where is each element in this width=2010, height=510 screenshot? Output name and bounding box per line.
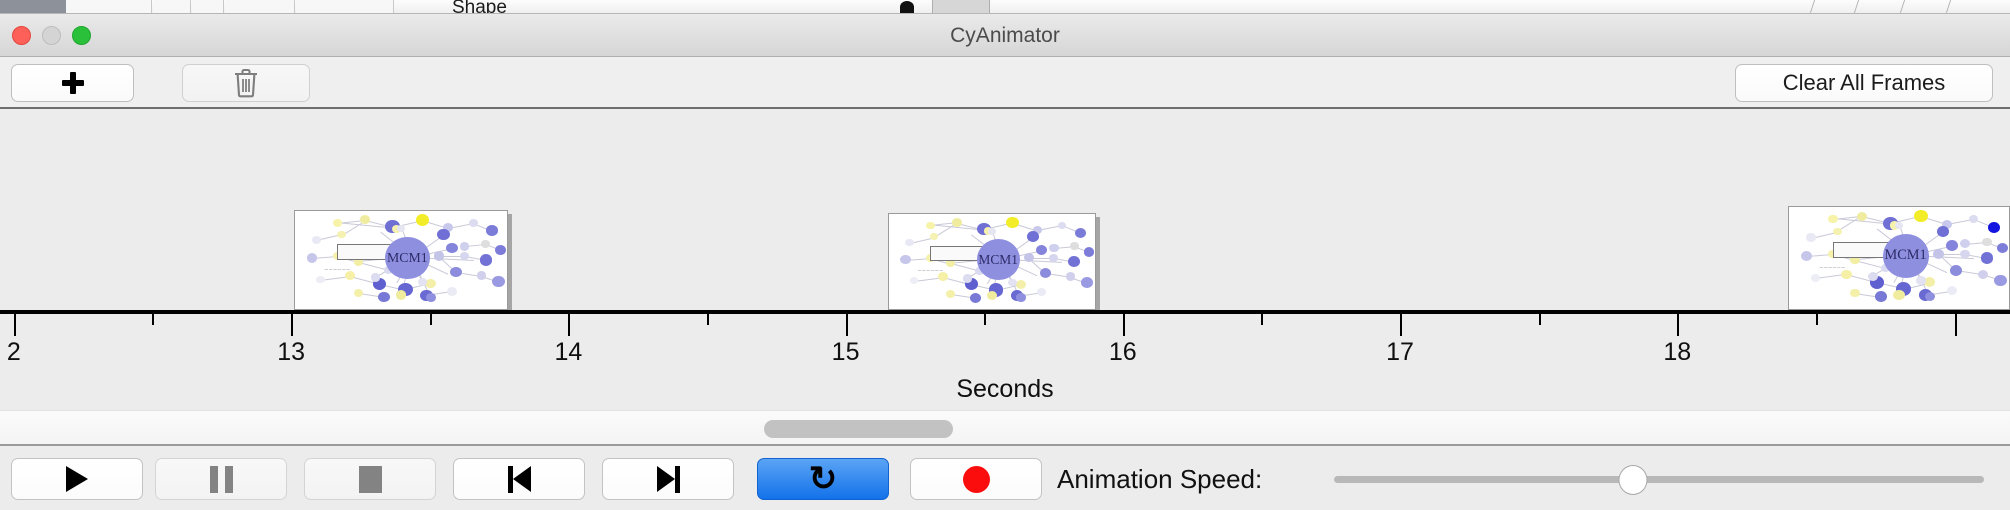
network-node: [905, 239, 914, 247]
background-divider: [1810, 0, 1815, 13]
network-node: [1914, 210, 1928, 222]
axis-line: [0, 310, 2010, 314]
network-node: [480, 254, 492, 265]
network-node: [312, 236, 321, 244]
network-node: [963, 274, 973, 283]
network-node: [1036, 245, 1047, 255]
frame-thumbnail[interactable]: — — — — — —MCM1: [888, 213, 1096, 310]
background-cell: [296, 0, 394, 13]
network-caption: — — — — — —: [325, 267, 350, 271]
network-node: [425, 279, 436, 289]
frame-timeline-panel[interactable]: — — — — — —MCM1 — — — — — —MCM1 — — — — …: [0, 109, 2010, 310]
delete-frame-button[interactable]: [182, 64, 310, 102]
network-node: [360, 215, 370, 224]
axis-tick-label: 18: [1663, 338, 1691, 367]
axis-tick-minor: [984, 314, 986, 325]
axis-tick-major: [568, 314, 570, 336]
timeline-axis: 2131415161718 Seconds: [0, 310, 2010, 406]
network-node: [1947, 286, 1957, 295]
background-cell: [225, 0, 295, 13]
network-node: [1801, 251, 1812, 261]
background-divider: [1854, 0, 1859, 13]
network-node: [450, 267, 462, 277]
background-marker: [900, 1, 914, 13]
loop-button[interactable]: ↻: [757, 458, 889, 500]
axis-tick-major: [291, 314, 293, 336]
network-node: [930, 233, 938, 240]
network-node: [1058, 222, 1067, 230]
network-node: [418, 278, 427, 286]
network-node: [1988, 222, 2000, 233]
network-node: [446, 243, 458, 253]
network-node: [1828, 215, 1837, 223]
network-node: [426, 293, 436, 302]
scrollbar-thumb[interactable]: [764, 420, 953, 438]
title-bar: CyAnimator: [0, 14, 2010, 57]
pause-icon: [210, 466, 233, 493]
window-title: CyAnimator: [0, 14, 2010, 57]
axis-tick-minor: [707, 314, 709, 325]
axis-tick-minor: [1539, 314, 1541, 325]
network-node: [1081, 277, 1093, 288]
network-node: [492, 276, 504, 287]
frame-toolbar: Clear All Frames: [0, 57, 2010, 109]
network-hub-node: MCM1: [977, 239, 1020, 280]
network-node: [1016, 293, 1026, 302]
network-node: [1068, 256, 1080, 267]
network-node: [1924, 277, 1935, 287]
network-node: [938, 272, 948, 281]
axis-tick-label: 17: [1386, 338, 1414, 367]
network-caption: — — — — — —: [918, 268, 943, 272]
network-node: [1857, 212, 1867, 221]
background-cell: [66, 0, 152, 13]
network-node: [1027, 231, 1039, 242]
network-node: [1008, 279, 1017, 287]
network-node: [1049, 254, 1058, 262]
play-icon: [66, 466, 88, 492]
network-node: [1978, 270, 1988, 279]
axis-tick-label: 2: [7, 338, 21, 367]
background-divider: [1900, 0, 1905, 13]
network-node: [1084, 247, 1094, 256]
network-node: [1049, 244, 1059, 253]
axis-tick-major: [1677, 314, 1679, 336]
network-node: [1811, 274, 1820, 282]
network-node: [926, 222, 935, 230]
add-frame-button[interactable]: [11, 64, 134, 102]
network-node: [1994, 275, 2007, 287]
network-node: [316, 276, 324, 284]
network-node: [447, 287, 457, 296]
background-cell: [192, 0, 224, 13]
network-node: [1075, 228, 1086, 238]
axis-tick-label: 13: [277, 338, 305, 367]
background-window-strip: Shape: [0, 0, 2010, 14]
axis-tick-major: [1400, 314, 1402, 336]
trash-icon: [233, 68, 259, 98]
network-node: [437, 229, 449, 240]
axis-tick-major: [1123, 314, 1125, 336]
network-node: [1969, 215, 1978, 223]
axis-tick-minor: [152, 314, 154, 325]
axis-tick-major: [14, 314, 16, 336]
animation-speed-slider[interactable]: [1334, 458, 1984, 500]
network-node: [1850, 289, 1859, 297]
network-node: [946, 290, 955, 298]
network-node: [378, 292, 390, 302]
slider-thumb[interactable]: [1619, 465, 1648, 495]
cyanimator-window: Shape CyAnimator Clear All Frames: [0, 0, 2010, 510]
network-node: [1981, 252, 1994, 264]
network-hub-node: MCM1: [385, 237, 430, 279]
network-node: [460, 242, 470, 251]
axis-tick-minor: [1261, 314, 1263, 325]
network-node: [345, 271, 355, 280]
plus-icon: [62, 72, 84, 94]
network-node: [1806, 233, 1815, 241]
network-node: [1875, 291, 1887, 302]
network-node: [1040, 268, 1051, 278]
stop-icon: [359, 466, 382, 493]
network-node: [1982, 238, 1991, 246]
network-node: [1016, 280, 1026, 289]
network-node: [416, 214, 429, 226]
previous-frame-button[interactable]: [453, 458, 585, 500]
skip-forward-icon: [657, 466, 680, 493]
network-graph: — — — — — —MCM1: [1789, 207, 2009, 309]
network-node: [910, 277, 918, 284]
network-node: [307, 253, 318, 263]
network-node: [1916, 276, 1925, 284]
record-button[interactable]: [910, 458, 1042, 500]
network-node: [333, 219, 342, 227]
network-node: [486, 225, 498, 235]
axis-tick-minor: [1816, 314, 1818, 325]
background-divider: [1946, 0, 1951, 13]
background-window-label: Shape: [452, 0, 507, 14]
slider-track[interactable]: [1334, 476, 1984, 483]
axis-tick-label: 16: [1109, 338, 1137, 367]
network-node: [1868, 272, 1878, 281]
network-node: [970, 293, 981, 303]
network-node: [495, 245, 506, 255]
pause-button[interactable]: [155, 458, 287, 500]
frame-thumbnail[interactable]: — — — — — —MCM1: [1788, 206, 2010, 310]
network-node: [987, 291, 997, 300]
network-node: [988, 228, 996, 235]
background-tab: [0, 0, 66, 13]
clear-all-frames-button[interactable]: Clear All Frames: [1735, 64, 1993, 102]
network-graph: — — — — — —MCM1: [295, 211, 507, 309]
network-node: [354, 289, 363, 297]
network-node: [1893, 290, 1904, 300]
network-graph: — — — — — —MCM1: [889, 214, 1095, 309]
network-node: [1950, 265, 1962, 276]
axis-tick-major: [1955, 314, 1957, 336]
network-node: [900, 255, 910, 264]
network-node: [1037, 288, 1047, 297]
record-icon: [963, 466, 990, 493]
network-node: [337, 231, 345, 239]
network-node: [1833, 228, 1842, 236]
network-node: [1946, 240, 1958, 251]
network-node: [1006, 217, 1019, 229]
next-frame-button[interactable]: [602, 458, 734, 500]
background-swatch: [932, 0, 990, 13]
axis-tick-label: 15: [832, 338, 860, 367]
network-caption: — — — — — —: [1820, 265, 1845, 269]
network-node: [481, 240, 490, 248]
stop-button[interactable]: [304, 458, 436, 500]
network-node: [1997, 243, 2008, 253]
playback-toolbar: ↻ Animation Speed:: [0, 448, 2010, 510]
network-hub-node: MCM1: [1883, 234, 1929, 278]
axis-tick-minor: [430, 314, 432, 325]
network-node: [469, 219, 478, 227]
skip-back-icon: [508, 466, 531, 493]
network-node: [1070, 242, 1079, 250]
network-node: [952, 218, 962, 227]
network-node: [1960, 250, 1969, 258]
network-node: [1066, 272, 1076, 281]
play-button[interactable]: [11, 458, 143, 500]
network-node: [1895, 222, 1903, 229]
frame-thumbnail[interactable]: — — — — — —MCM1: [294, 210, 508, 310]
network-node: [1960, 239, 1970, 248]
loop-icon: ↻: [809, 462, 838, 496]
network-node: [1933, 249, 1944, 259]
network-node: [1925, 292, 1935, 301]
axis-title: Seconds: [0, 375, 2010, 404]
axis-tick-label: 14: [554, 338, 582, 367]
network-node: [396, 290, 407, 300]
timeline-scrollbar[interactable]: [0, 410, 2010, 446]
background-cell: [153, 0, 191, 13]
axis-tick-major: [846, 314, 848, 336]
network-node: [477, 271, 487, 280]
animation-speed-label: Animation Speed:: [1057, 458, 1262, 500]
network-node: [1937, 226, 1950, 238]
network-node: [1841, 270, 1852, 280]
